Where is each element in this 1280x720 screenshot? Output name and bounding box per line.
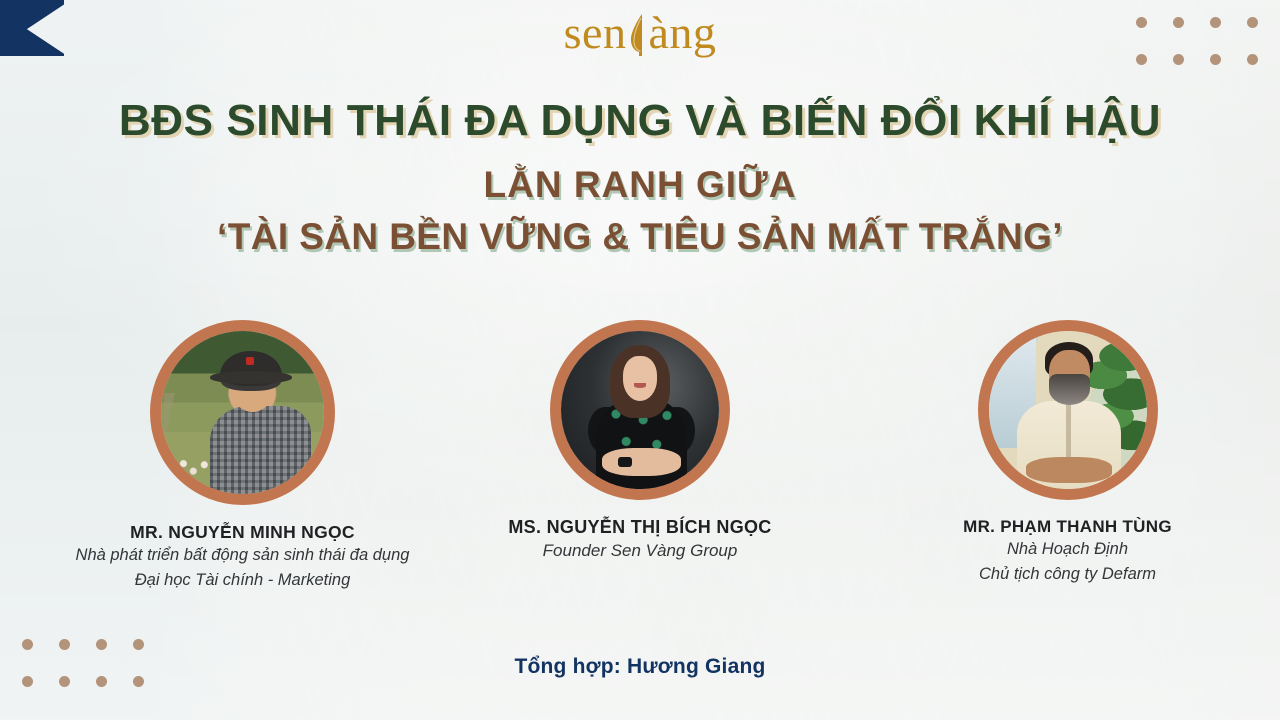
- speaker-role-line-1: Founder Sen Vàng Group: [425, 538, 855, 564]
- hat-badge: [246, 357, 254, 365]
- credit-line: Tổng hợp: Hương Giang: [0, 655, 1280, 679]
- decor-dot: [22, 639, 33, 650]
- speaker-role-line-1: Nhà phát triển bất động sản sinh thái đa…: [0, 543, 485, 568]
- crossed-arms: [602, 448, 681, 476]
- speaker-photo-farmer: [161, 331, 324, 494]
- avatar: [550, 320, 730, 500]
- bucket-hat: [220, 351, 282, 387]
- beard: [1049, 374, 1090, 406]
- face: [623, 356, 658, 400]
- speaker-card-2: MS. NGUYỄN THỊ BÍCH NGỌC Founder Sen Vàn…: [425, 320, 855, 564]
- speaker-name: MS. NGUYỄN THỊ BÍCH NGỌC: [425, 517, 855, 538]
- plaid-shirt: [210, 406, 311, 497]
- wristwatch: [618, 457, 632, 466]
- decor-dot: [133, 639, 144, 650]
- logo-text-vang: àng: [648, 7, 716, 58]
- speaker-name: MR. PHẠM THANH TÙNG: [855, 517, 1280, 537]
- speakers-row: MR. NGUYỄN MINH NGỌC Nhà phát triển bất …: [0, 320, 1280, 620]
- smile: [634, 383, 647, 388]
- speaker-role-line-2: Đại học Tài chính - Marketing: [0, 568, 485, 593]
- crossed-arms: [1026, 457, 1111, 482]
- slide-canvas: sen àng BĐS SINH THÁI ĐA DỤNG VÀ BIẾN ĐỔ…: [0, 0, 1280, 720]
- speaker-photo-founder: [561, 331, 719, 489]
- brand-logo: sen àng: [0, 10, 1280, 58]
- speaker-role-line-2: Chủ tịch công ty Defarm: [855, 562, 1280, 587]
- decor-dot: [96, 639, 107, 650]
- avatar: [150, 320, 335, 505]
- lotus-petal-v-icon: [622, 12, 652, 58]
- subtitle-line-1: LẰN RANH GIỮA: [0, 166, 1280, 205]
- avatar: [978, 320, 1158, 500]
- speaker-card-3: MR. PHẠM THANH TÙNG Nhà Hoạch Định Chủ t…: [855, 320, 1280, 587]
- speaker-photo-planner: [989, 331, 1147, 489]
- page-title: BĐS SINH THÁI ĐA DỤNG VÀ BIẾN ĐỔI KHÍ HẬ…: [0, 98, 1280, 144]
- decor-dot: [59, 639, 70, 650]
- title-block: BĐS SINH THÁI ĐA DỤNG VÀ BIẾN ĐỔI KHÍ HẬ…: [0, 98, 1280, 257]
- speaker-role-line-1: Nhà Hoạch Định: [855, 537, 1280, 562]
- subtitle-line-2: ‘TÀI SẢN BỀN VỮNG & TIÊU SẢN MẤT TRẮNG’: [0, 218, 1280, 257]
- speaker-name: MR. NGUYỄN MINH NGỌC: [0, 522, 485, 543]
- logo-text-sen: sen: [564, 7, 627, 58]
- speaker-card-1: MR. NGUYỄN MINH NGỌC Nhà phát triển bất …: [0, 320, 485, 593]
